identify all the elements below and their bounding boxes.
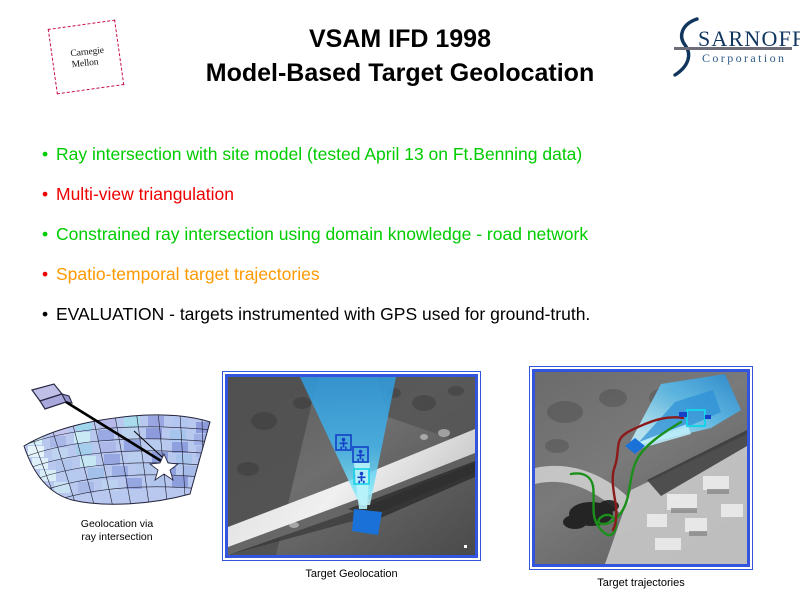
image-frame-outer bbox=[529, 366, 753, 570]
slide-canvas: Carnegie Mellon SARNOFF Corporation VSAM… bbox=[0, 0, 800, 600]
sarnoff-logo: SARNOFF Corporation bbox=[672, 16, 796, 78]
figure-caption-geolocation: Target Geolocation bbox=[222, 568, 481, 580]
figure-caption-trajectories: Target trajectories bbox=[529, 577, 753, 589]
target-trajectories-image bbox=[535, 372, 747, 564]
target-geolocation-figure: Target Geolocation bbox=[222, 371, 481, 580]
bullet-marker-icon: • bbox=[42, 184, 56, 204]
bullet-list: •Ray intersection with site model (teste… bbox=[42, 144, 762, 344]
mesh-caption-line-1: Geolocation via bbox=[22, 518, 212, 531]
bullet-item-2: •Multi-view triangulation bbox=[42, 184, 762, 224]
bullet-text-1: Ray intersection with site model (tested… bbox=[56, 144, 582, 164]
image-frame-inner bbox=[225, 374, 478, 558]
marker-dot bbox=[679, 412, 687, 417]
bullet-marker-icon: • bbox=[42, 304, 56, 324]
bullet-marker-icon: • bbox=[42, 224, 56, 244]
terrain-mesh-figure bbox=[14, 376, 219, 521]
bullet-text-5: EVALUATION - targets instrumented with G… bbox=[56, 304, 590, 324]
camera-box-icon bbox=[32, 384, 72, 409]
carnegie-mellon-logo: Carnegie Mellon bbox=[48, 20, 134, 98]
mesh-caption-line-2: ray intersection bbox=[22, 531, 212, 544]
bullet-item-4: •Spatio-temporal target trajectories bbox=[42, 264, 762, 304]
marker-dot bbox=[705, 415, 711, 419]
bullet-text-2: Multi-view triangulation bbox=[56, 184, 234, 204]
target-geolocation-image bbox=[228, 377, 475, 555]
title-line-2: Model-Based Target Geolocation bbox=[140, 56, 660, 90]
geolocation-ray-intersection-diagram: Geolocation via ray intersection bbox=[14, 376, 219, 551]
bullet-text-4: Spatio-temporal target trajectories bbox=[56, 264, 320, 284]
terrain-surface bbox=[22, 410, 214, 512]
figure-caption-mesh: Geolocation via ray intersection bbox=[22, 518, 212, 544]
bullet-item-1: •Ray intersection with site model (teste… bbox=[42, 144, 762, 184]
bullet-item-3: •Constrained ray intersection using doma… bbox=[42, 224, 762, 264]
image-artifact-pixel bbox=[464, 545, 467, 548]
title-line-1: VSAM IFD 1998 bbox=[140, 22, 660, 56]
target-trajectories-figure: Target trajectories bbox=[529, 366, 753, 589]
sarnoff-subtitle: Corporation bbox=[702, 52, 786, 65]
bullet-text-3: Constrained ray intersection using domai… bbox=[56, 224, 588, 244]
blue-target-square bbox=[352, 509, 382, 535]
bullet-marker-icon: • bbox=[42, 264, 56, 284]
image-frame-inner bbox=[532, 369, 750, 567]
bullet-marker-icon: • bbox=[42, 144, 56, 164]
page-title: VSAM IFD 1998 Model-Based Target Geoloca… bbox=[140, 22, 660, 90]
sarnoff-wordmark: SARNOFF bbox=[698, 28, 800, 50]
bullet-item-5: •EVALUATION - targets instrumented with … bbox=[42, 304, 762, 344]
image-frame-outer bbox=[222, 371, 481, 561]
